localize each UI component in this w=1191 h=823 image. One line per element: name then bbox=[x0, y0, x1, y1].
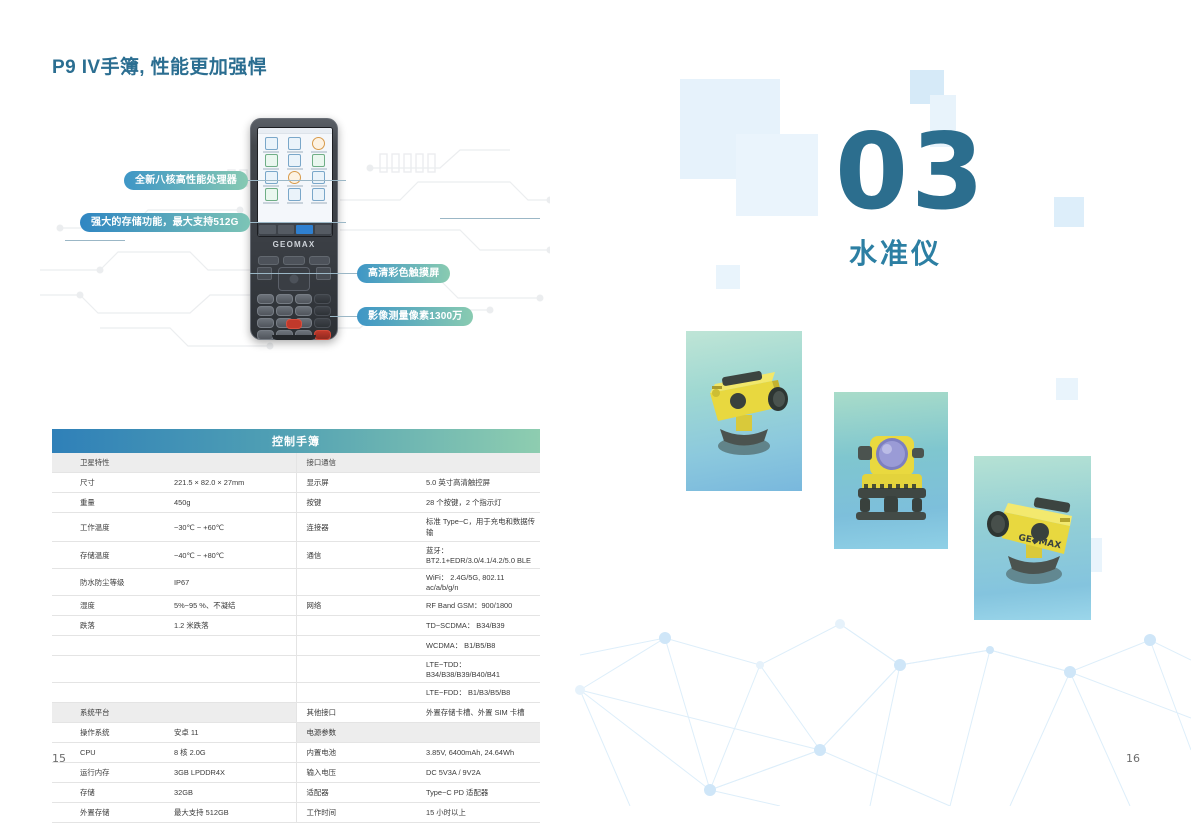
spec-table: 控制手簿 卫星特性 接口通信 尺寸 221.5 × 82.0 × 27mm 显示… bbox=[52, 429, 540, 823]
table-row: 重量 450g 按键 28 个按键，2 个指示灯 bbox=[52, 493, 540, 513]
table-row: CPU 8 核 2.0G 内置电池 3.85V, 6400mAh, 24.64W… bbox=[52, 743, 540, 763]
device-brand-label: GEOMAX bbox=[250, 240, 338, 249]
callout-camera: 影像测量像素1300万 bbox=[357, 307, 473, 326]
section-left: 卫星特性 bbox=[52, 453, 174, 473]
leader-line-5 bbox=[65, 240, 125, 241]
device-screen bbox=[257, 127, 333, 237]
table-section-row-2: 系统平台 其他接口 外置存储卡槽、外置 SIM 卡槽 bbox=[52, 703, 540, 723]
table-row: LTE−FDD： B1/B3/B5/B8 bbox=[52, 683, 540, 703]
chapter-title: 水准仪 bbox=[849, 232, 942, 272]
photo-level-angled-right: GE◆MAX bbox=[974, 456, 1091, 620]
callout-processor: 全新八核高性能处理器 bbox=[124, 171, 248, 190]
callout-storage: 强大的存储功能，最大支持512G bbox=[80, 213, 250, 232]
section-right: 接口通信 bbox=[296, 453, 418, 473]
left-page: P9 IV手簿, 性能更加强悍 bbox=[0, 0, 570, 806]
table-row: 湿度 5%−95 %、不凝结 网络 RF Band GSM：900/1800 bbox=[52, 596, 540, 616]
decor-square-6 bbox=[716, 265, 740, 289]
table-title: 控制手簿 bbox=[52, 429, 540, 453]
table-row: 存储 32GB 适配器 Type−C PD 适配器 bbox=[52, 783, 540, 803]
section2-left: 系统平台 bbox=[52, 703, 174, 723]
page-title: P9 IV手簿, 性能更加强悍 bbox=[52, 52, 267, 79]
right-page: 03 水准仪 bbox=[570, 0, 1191, 806]
table-row: 尺寸 221.5 × 82.0 × 27mm 显示屏 5.0 英寸高清触控屏 bbox=[52, 473, 540, 493]
table-row: 存储温度 −40℃ ~ +80℃ 通信 蓝牙： BT2.1+EDR/3.0/4.… bbox=[52, 542, 540, 569]
table-row: 操作系统 安卓 11 电源参数 bbox=[52, 723, 540, 743]
network-pattern bbox=[570, 600, 1191, 806]
device-nav-pad bbox=[278, 267, 310, 291]
table-row: LTE−TDD： B34/B38/B39/B40/B41 bbox=[52, 656, 540, 683]
leader-line-6 bbox=[440, 218, 540, 219]
table-title-row: 控制手簿 bbox=[52, 429, 540, 453]
table-section-row: 卫星特性 接口通信 bbox=[52, 453, 540, 473]
leader-line-2 bbox=[236, 222, 346, 223]
leader-line-1 bbox=[236, 180, 346, 181]
photo-level-front bbox=[834, 392, 948, 549]
page-number-right: 16 bbox=[1126, 752, 1140, 765]
table-row: 运行内存 3GB LPDDR4X 输入电压 DC 5V3A / 9V2A bbox=[52, 763, 540, 783]
photo-level-angled-left bbox=[686, 331, 802, 491]
callout-display: 高清彩色触摸屏 bbox=[357, 264, 450, 283]
table-row: 防水防尘等级 IP67 WiFi： 2.4G/5G, 802.11 ac/a/b… bbox=[52, 569, 540, 596]
decor-square-2 bbox=[736, 134, 818, 216]
table-row: 跌落 1.2 米跌落 TD−SCDMA： B34/B39 bbox=[52, 616, 540, 636]
table-row: 工作温度 −30℃ ~ +60℃ 连接器 标准 Type−C，用于充电和数据传输 bbox=[52, 513, 540, 542]
decor-square-7 bbox=[1056, 378, 1078, 400]
leader-line-3 bbox=[250, 273, 358, 274]
leader-line-4 bbox=[330, 316, 358, 317]
table-row: WCDMA： B1/B5/B8 bbox=[52, 636, 540, 656]
device-keypad bbox=[257, 294, 331, 340]
page-number-left: 15 bbox=[52, 752, 66, 765]
decor-square-5 bbox=[1054, 197, 1084, 227]
chapter-number: 03 bbox=[835, 120, 987, 225]
device-photo-p9iv: GEOMAX bbox=[250, 118, 338, 340]
